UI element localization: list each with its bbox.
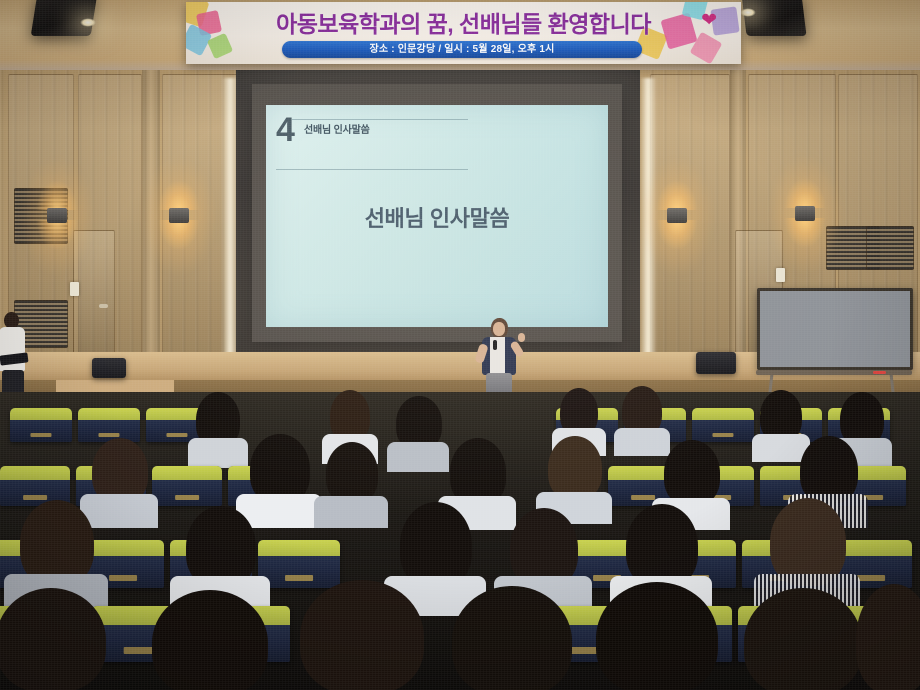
red-marker — [873, 371, 886, 374]
light-switch-plate[interactable] — [70, 282, 79, 296]
auditorium-seat[interactable] — [10, 408, 72, 442]
slide-number: 4 — [276, 115, 295, 145]
ceiling-spotlight — [80, 18, 96, 27]
marker-tray — [756, 370, 912, 375]
wall-sconce — [792, 196, 818, 230]
auditorium-seat[interactable] — [258, 540, 340, 588]
microphone — [493, 340, 497, 350]
audience-seating-area — [0, 392, 920, 690]
welcome-banner: 아동보육학과의 꿈, 선배님들 환영합니다 ❤ 장소 : 인문강당 / 일시 :… — [186, 2, 741, 64]
ceiling-spotlight — [740, 8, 756, 17]
auditorium-seat[interactable] — [692, 408, 754, 442]
floor-monitor-speaker — [92, 358, 126, 378]
banner-title: 아동보육학과의 꿈, 선배님들 환영합니다 — [200, 5, 727, 39]
whiteboard-on-stand[interactable] — [757, 288, 913, 370]
slide-rule-bottom — [276, 169, 468, 170]
auditorium-seat[interactable] — [152, 466, 222, 506]
auditorium-seat[interactable] — [78, 408, 140, 442]
ceiling-recess-panel — [741, 0, 806, 36]
door-knob — [99, 304, 108, 308]
heart-icon: ❤ — [701, 11, 717, 30]
wall-sconce — [166, 198, 192, 232]
wall-air-vent — [866, 226, 914, 270]
wall-sconce — [44, 198, 70, 232]
projection-screen: 4 선배님 인사말씀 선배님 인사말씀 — [252, 84, 622, 342]
auditorium-photo: 4 선배님 인사말씀 선배님 인사말씀 아동보육학과의 꿈, 선배님들 환영합니… — [0, 0, 920, 690]
banner-subtitle: 장소 : 인문강당 / 일시 : 5월 28일, 오후 1시 — [282, 41, 642, 58]
light-switch-plate[interactable] — [776, 268, 785, 282]
slide-title: 선배님 인사말씀 — [266, 201, 608, 233]
slide-rule-top — [292, 119, 468, 120]
floor-monitor-speaker — [696, 352, 736, 374]
slide-header: 선배님 인사말씀 — [304, 121, 370, 136]
presentation-slide: 4 선배님 인사말씀 선배님 인사말씀 — [266, 105, 608, 327]
wall-sconce — [664, 198, 690, 232]
